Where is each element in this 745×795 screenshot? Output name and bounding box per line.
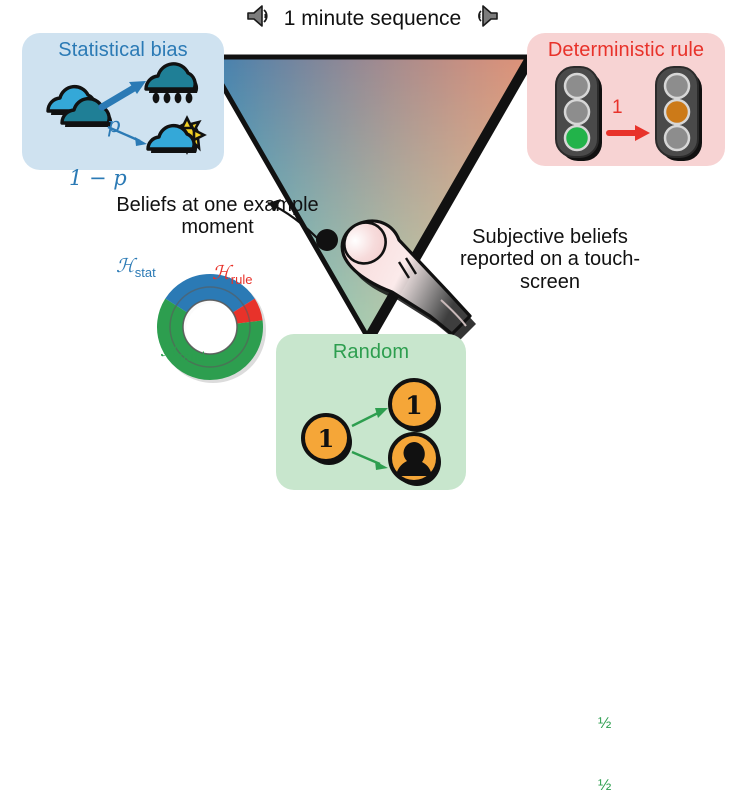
transition-arrow-deterministic (609, 125, 650, 141)
belief-donut-chart (155, 272, 265, 382)
svg-text:1: 1 (318, 424, 335, 453)
panel-statistical-bias-title: Statistical bias (22, 39, 224, 62)
coin-tails-icon-outcome (390, 434, 441, 486)
random-diagram: 1 1 (276, 370, 466, 488)
transition-arrow-bottom (352, 452, 388, 470)
donut-label-stat: ℋstat (116, 255, 156, 280)
probability-label-random-top: ½ (598, 715, 611, 733)
probability-label-random-bottom: ½ (598, 777, 611, 795)
annotation-beliefs-moment: Beliefs at one example moment (110, 194, 325, 239)
donut-label-rand: ℋrand (160, 339, 205, 364)
rain-cloud-icon (146, 64, 198, 103)
statistical-bias-diagram (22, 61, 224, 171)
panel-random[interactable]: Random 1 1 (276, 334, 466, 490)
coin-heads-icon-source: 1 (303, 415, 352, 465)
probability-label-deterministic: 1 (612, 97, 623, 119)
traffic-light-orange-icon (656, 67, 702, 161)
probability-label-low: 1 − p (69, 166, 127, 190)
svg-text:1: 1 (405, 391, 422, 420)
traffic-light-green-icon (556, 67, 602, 161)
coin-heads-icon-outcome: 1 (390, 380, 441, 432)
panel-random-title: Random (276, 341, 466, 364)
probability-label-high: p (107, 113, 120, 137)
deterministic-rule-diagram (527, 66, 725, 166)
donut-label-rule: ℋrule (212, 262, 252, 287)
panel-deterministic-rule-title: Deterministic rule (527, 39, 725, 62)
panel-deterministic-rule[interactable]: Deterministic rule (527, 33, 725, 166)
transition-arrow-top (352, 408, 388, 426)
figure-canvas: 1 minute sequence (0, 0, 745, 503)
annotation-touch-screen: Subjective beliefs reported on a touch-s… (438, 226, 662, 293)
transition-arrow-high (102, 81, 146, 107)
sun-cloud-icon (148, 118, 204, 153)
panel-statistical-bias[interactable]: Statistical bias (22, 33, 224, 170)
